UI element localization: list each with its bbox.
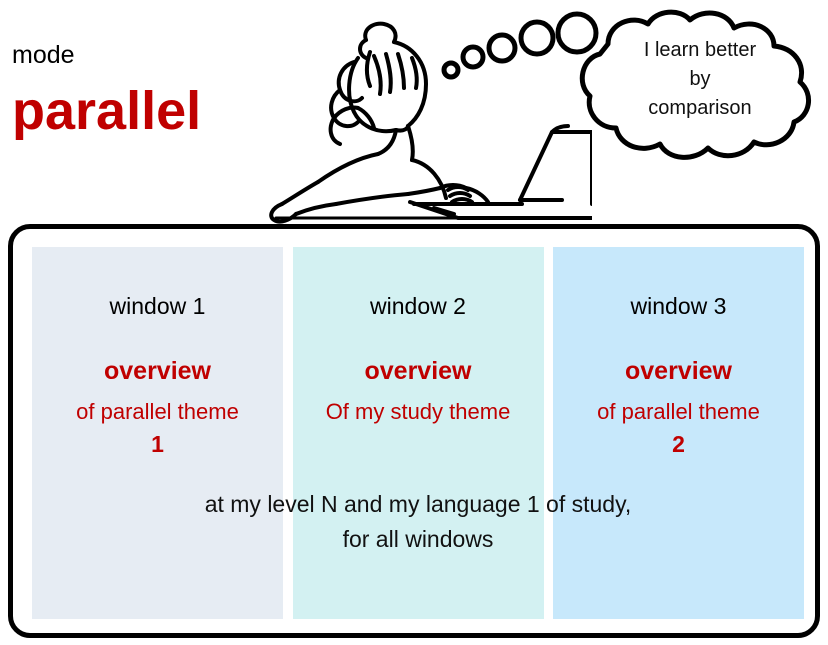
window-panel-3[interactable]: window 3 overview of parallel theme 2 <box>553 247 804 619</box>
thought-bubble: I learn better by comparison <box>440 6 828 178</box>
thought-line-1: I learn better <box>602 36 798 65</box>
mode-value-parallel: parallel <box>12 80 292 142</box>
mode-header: mode parallel <box>12 40 292 142</box>
thought-dot-2 <box>463 47 483 67</box>
window-panel-3-desc-text: of parallel theme <box>597 399 760 424</box>
thought-line-2: by <box>602 65 798 94</box>
window-panel-1-desc: of parallel theme 1 <box>32 396 283 461</box>
thought-bubble-text: I learn better by comparison <box>602 36 798 123</box>
thought-dot-5 <box>558 14 596 52</box>
window-panel-1[interactable]: window 1 overview of parallel theme 1 <box>32 247 283 619</box>
thought-line-3: comparison <box>602 94 798 123</box>
window-panel-2[interactable]: window 2 overview Of my study theme <box>293 247 544 619</box>
window-panel-3-desc-num: 2 <box>672 431 685 457</box>
window-panel-2-desc: Of my study theme <box>293 396 544 428</box>
window-panel-3-title: window 3 <box>553 293 804 320</box>
thought-dot-1 <box>444 63 458 77</box>
thought-dot-4 <box>521 22 553 54</box>
window-panel-1-desc-num: 1 <box>151 431 164 457</box>
window-panel-1-title: window 1 <box>32 293 283 320</box>
window-panel-3-desc: of parallel theme 2 <box>553 396 804 461</box>
window-panel-2-title: window 2 <box>293 293 544 320</box>
window-panel-2-desc-text: Of my study theme <box>326 399 511 424</box>
window-panel-2-overview: overview <box>293 356 544 386</box>
window-panel-1-desc-text: of parallel theme <box>76 399 239 424</box>
window-panel-3-overview: overview <box>553 356 804 386</box>
thought-dot-3 <box>489 35 515 61</box>
windows-container: window 1 overview of parallel theme 1 wi… <box>8 224 820 638</box>
window-panel-1-overview: overview <box>32 356 283 386</box>
window-panels: window 1 overview of parallel theme 1 wi… <box>32 247 804 619</box>
mode-label: mode <box>12 40 292 70</box>
